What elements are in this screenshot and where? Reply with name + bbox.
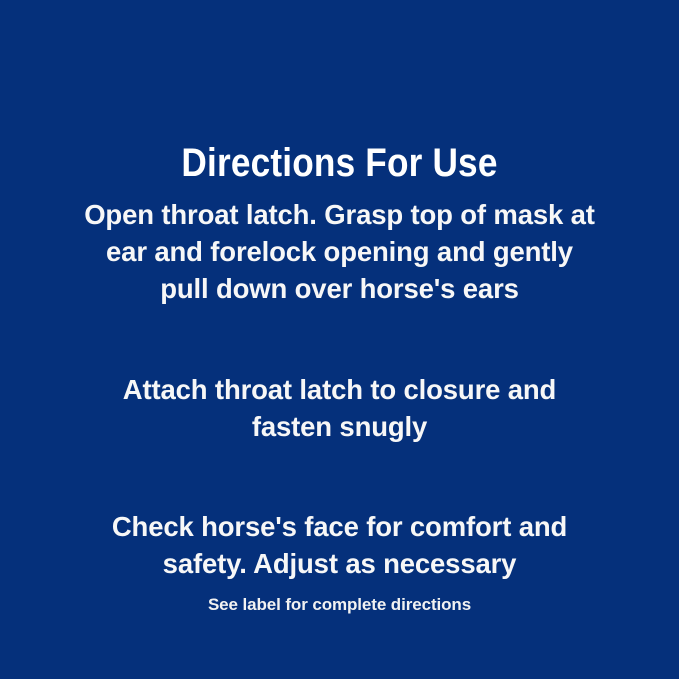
instructions-list: Open throat latch. Grasp top of mask at …	[80, 196, 600, 610]
page-title: Directions For Use	[41, 140, 639, 186]
instruction-step-1: Open throat latch. Grasp top of mask at …	[80, 196, 600, 307]
instruction-step-3: Check horse's face for comfort and safet…	[80, 508, 600, 582]
footer-note: See label for complete directions	[0, 594, 679, 616]
directions-panel: Directions For Use Open throat latch. Gr…	[0, 0, 679, 679]
instruction-step-2: Attach throat latch to closure and faste…	[80, 371, 600, 445]
